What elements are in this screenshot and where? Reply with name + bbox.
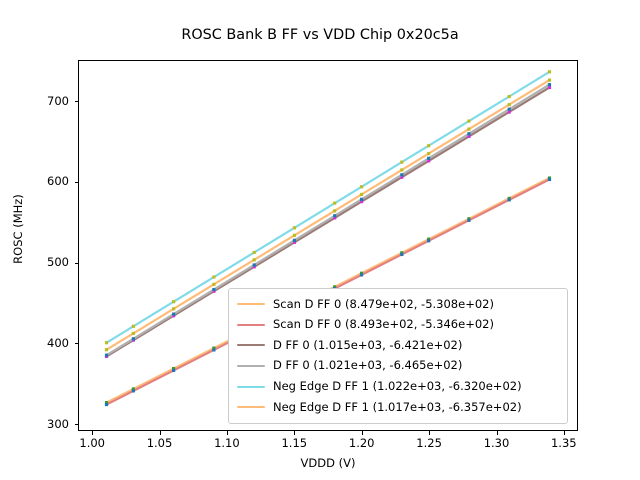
legend-entry[interactable]: D FF 0 (1.015e+03, -6.421e+02) (235, 335, 561, 356)
data-point-marker (400, 168, 403, 171)
x-tick-label: 1.20 (332, 436, 392, 450)
data-point-marker (132, 389, 135, 392)
data-point-marker (212, 348, 215, 351)
x-tick-label: 1.15 (264, 436, 324, 450)
data-point-marker (253, 263, 256, 266)
y-tick-mark (75, 424, 79, 425)
data-point-marker (293, 234, 296, 237)
data-point-marker (105, 403, 108, 406)
legend-entry-label: Scan D FF 0 (8.493e+02, -5.346e+02) (273, 319, 494, 331)
legend-entry-label: D FF 0 (1.015e+03, -6.421e+02) (273, 340, 462, 352)
data-point-marker (172, 313, 175, 316)
y-tick-label: 500 (29, 255, 69, 269)
data-point-marker (427, 144, 430, 147)
x-tick-mark (362, 431, 363, 435)
legend-color-swatch (237, 324, 265, 326)
legend-entry[interactable]: Scan D FF 0 (8.493e+02, -5.346e+02) (235, 315, 561, 336)
data-point-marker (427, 239, 430, 242)
data-point-marker (333, 202, 336, 205)
legend-entry-label: Scan D FF 0 (8.479e+02, -5.308e+02) (273, 299, 494, 311)
data-point-marker (467, 219, 470, 222)
legend-entry-label: D FF 0 (1.021e+03, -6.465e+02) (273, 360, 462, 372)
data-point-marker (132, 325, 135, 328)
x-axis-label: VDDD (V) (78, 456, 578, 470)
legend-color-swatch (237, 303, 265, 305)
legend-color-swatch (237, 386, 265, 388)
data-point-marker (253, 251, 256, 254)
data-point-marker (105, 354, 108, 357)
legend-entry[interactable]: Scan D FF 0 (8.479e+02, -5.308e+02) (235, 294, 561, 315)
data-point-marker (132, 332, 135, 335)
data-point-marker (548, 79, 551, 82)
y-tick-mark (75, 263, 79, 264)
data-point-marker (508, 95, 511, 98)
data-point-marker (333, 214, 336, 217)
y-tick-mark (75, 101, 79, 102)
data-point-marker (548, 70, 551, 73)
x-tick-label: 1.10 (197, 436, 257, 450)
legend-entry-label: Neg Edge D FF 1 (1.017e+03, -6.357e+02) (273, 402, 522, 414)
legend-entry-label: Neg Edge D FF 1 (1.022e+03, -6.320e+02) (273, 381, 522, 393)
legend-color-swatch (237, 406, 265, 408)
legend-entry[interactable]: Neg Edge D FF 1 (1.017e+03, -6.357e+02) (235, 397, 561, 418)
y-tick-label: 300 (29, 417, 69, 431)
y-tick-label: 400 (29, 336, 69, 350)
x-tick-mark (294, 431, 295, 435)
data-point-marker (467, 128, 470, 131)
data-point-marker (467, 132, 470, 135)
data-point-marker (427, 152, 430, 155)
data-point-marker (360, 185, 363, 188)
data-point-marker (293, 226, 296, 229)
data-point-marker (508, 108, 511, 111)
x-tick-mark (227, 431, 228, 435)
data-point-marker (105, 341, 108, 344)
data-point-marker (212, 288, 215, 291)
data-point-marker (360, 193, 363, 196)
legend-entry[interactable]: Neg Edge D FF 1 (1.022e+03, -6.320e+02) (235, 376, 561, 397)
chart-title: ROSC Bank B FF vs VDD Chip 0x20c5a (0, 27, 640, 43)
data-point-marker (400, 173, 403, 176)
data-point-marker (132, 337, 135, 340)
data-point-marker (508, 103, 511, 106)
x-tick-label: 1.00 (62, 436, 122, 450)
data-point-marker (172, 369, 175, 372)
x-tick-label: 1.25 (399, 436, 459, 450)
data-point-marker (400, 161, 403, 164)
x-tick-label: 1.30 (467, 436, 527, 450)
y-tick-mark (75, 343, 79, 344)
x-tick-mark (497, 431, 498, 435)
data-point-marker (172, 300, 175, 303)
y-axis-label: ROSC (MHz) (11, 149, 25, 309)
chart-legend: Scan D FF 0 (8.479e+02, -5.308e+02)Scan … (228, 288, 568, 424)
x-tick-mark (564, 431, 565, 435)
x-tick-label: 1.05 (130, 436, 190, 450)
y-tick-label: 600 (29, 174, 69, 188)
data-point-marker (548, 178, 551, 181)
y-tick-label: 700 (29, 94, 69, 108)
figure-canvas: ROSC Bank B FF vs VDD Chip 0x20c5a 1.001… (0, 0, 640, 480)
data-point-marker (105, 348, 108, 351)
data-point-marker (467, 119, 470, 122)
x-tick-label: 1.35 (534, 436, 594, 450)
data-point-marker (427, 157, 430, 160)
data-point-marker (253, 258, 256, 261)
legend-color-swatch (237, 365, 265, 367)
data-point-marker (360, 198, 363, 201)
y-tick-mark (75, 182, 79, 183)
x-tick-mark (92, 431, 93, 435)
legend-entry[interactable]: D FF 0 (1.021e+03, -6.465e+02) (235, 356, 561, 377)
data-point-marker (360, 273, 363, 276)
data-point-marker (293, 239, 296, 242)
x-tick-mark (429, 431, 430, 435)
legend-color-swatch (237, 344, 265, 346)
data-point-marker (212, 275, 215, 278)
x-tick-mark (160, 431, 161, 435)
data-point-marker (508, 198, 511, 201)
data-point-marker (400, 253, 403, 256)
data-point-marker (212, 283, 215, 286)
data-point-marker (548, 83, 551, 86)
data-point-marker (172, 307, 175, 310)
data-point-marker (333, 209, 336, 212)
